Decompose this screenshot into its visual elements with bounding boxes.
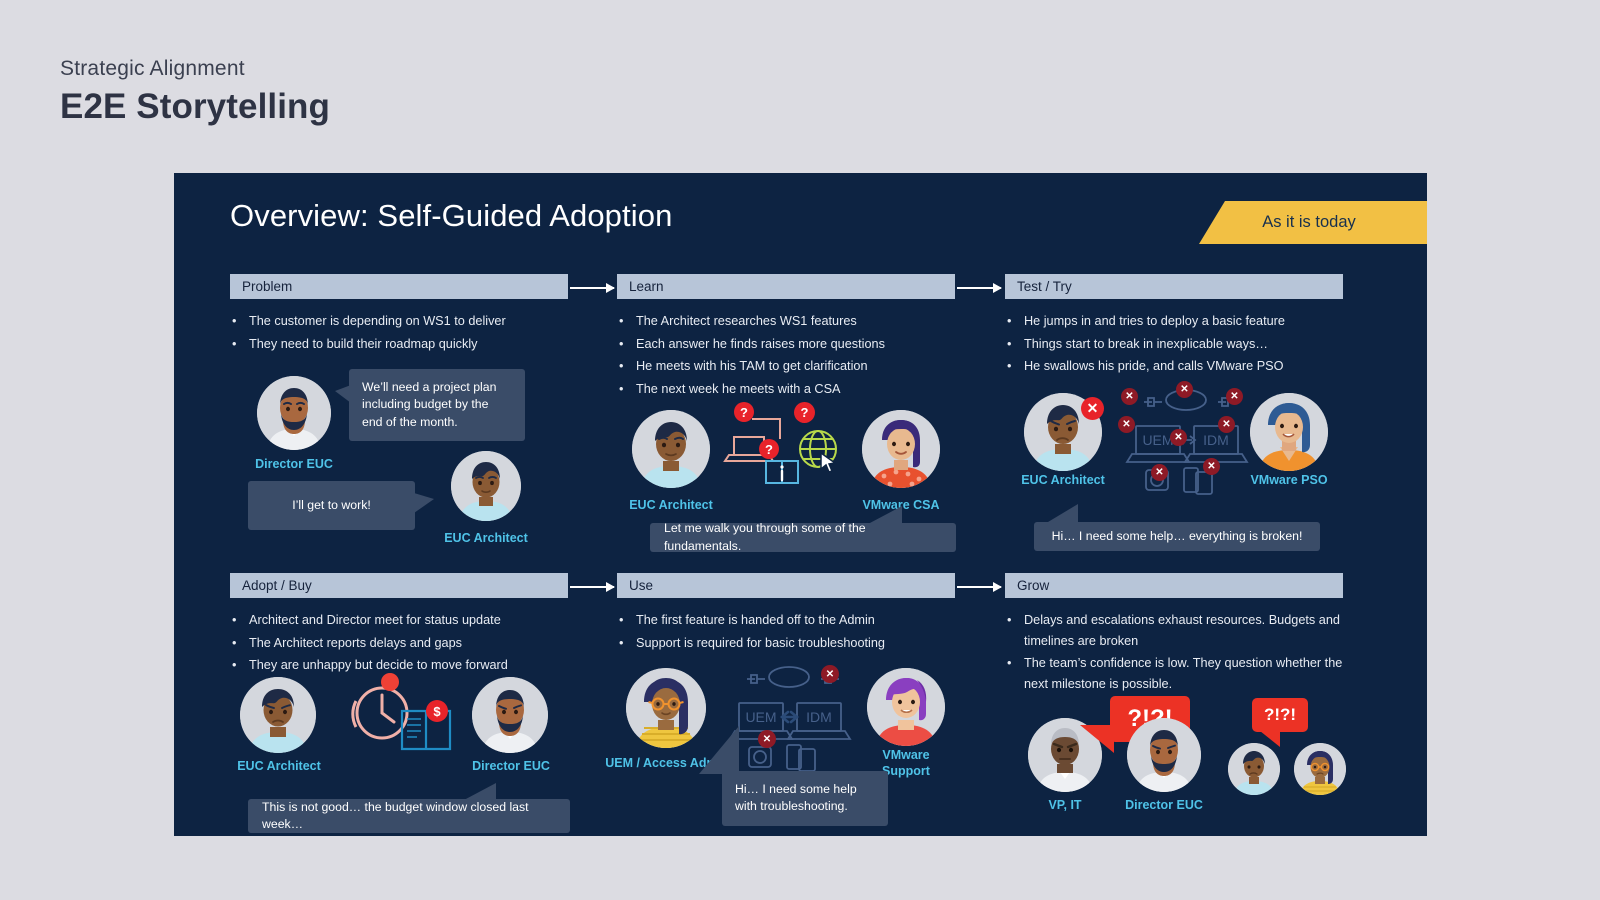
bullet-dot: •: [232, 633, 249, 654]
list-item: • The next week he meets with a CSA: [619, 379, 955, 400]
list-item: • They need to build their roadmap quick…: [232, 334, 568, 355]
list-item: • Things start to break in inexplicable …: [1007, 334, 1343, 355]
avatar-team-member-2: [1294, 743, 1346, 795]
error-badge-icon: ✕: [1170, 429, 1187, 446]
avatar-director-euc-adopt-label: Director EUC: [441, 759, 581, 775]
slide-body: Overview: Self-Guided Adoption As it is …: [174, 173, 1427, 836]
status-flag-label: As it is today: [1262, 213, 1356, 232]
avatar-euc-architect-test-label: EUC Architect: [993, 473, 1133, 489]
stage-adopt-buy: Adopt / Buy • Architect and Director mee…: [230, 573, 568, 678]
avatar-euc-architect-learn-label: EUC Architect: [601, 498, 741, 514]
error-badge-icon: ✕: [1118, 416, 1135, 433]
question-badge-icon: ?: [734, 402, 754, 422]
avatar-euc-architect-adopt: [240, 677, 316, 753]
bubble-director-euc-tail: [335, 385, 351, 403]
status-flag: As it is today: [1199, 201, 1427, 244]
avatar-director-euc-label: Director EUC: [227, 457, 361, 473]
bullet-text: They need to build their roadmap quickly: [249, 334, 568, 355]
svg-text:UEM: UEM: [1142, 432, 1173, 448]
bullet-dot: •: [1007, 311, 1024, 332]
bullet-dot: •: [1007, 334, 1024, 355]
stage-problem-bullets: • The customer is depending on WS1 to de…: [230, 311, 568, 354]
slide-title: Overview: Self-Guided Adoption: [230, 198, 672, 234]
stage-test-try: Test / Try • He jumps in and tries to de…: [1005, 274, 1343, 379]
list-item: • The Architect reports delays and gaps: [232, 633, 568, 654]
connector-adopt-use: [570, 586, 614, 588]
error-badge-icon: ✕: [1176, 381, 1193, 398]
connector-learn-test: [957, 287, 1001, 289]
bullet-dot: •: [619, 379, 636, 400]
stage-problem-header[interactable]: Problem: [230, 274, 568, 299]
bullet-dot: •: [232, 311, 249, 332]
stage-use-header[interactable]: Use: [617, 573, 955, 598]
avatar-vmware-pso-label: VMware PSO: [1219, 473, 1359, 489]
list-item: • Architect and Director meet for status…: [232, 610, 568, 631]
stage-adopt-buy-header-label: Adopt / Buy: [242, 578, 312, 593]
bullet-text: He jumps in and tries to deploy a basic …: [1024, 311, 1343, 332]
bullet-dot: •: [1007, 610, 1024, 651]
stage-grow: Grow • Delays and escalations exhaust re…: [1005, 573, 1343, 696]
slide-canvas: Strategic Alignment E2E Storytelling Ove…: [0, 0, 1600, 900]
avatar-euc-architect-learn: [632, 410, 710, 488]
stage-use-bullets: • The first feature is handed off to the…: [617, 610, 955, 653]
bullet-text: He meets with his TAM to get clarificati…: [636, 356, 955, 377]
bullet-text: The customer is depending on WS1 to deli…: [249, 311, 568, 332]
bullet-dot: •: [1007, 653, 1024, 694]
stage-grow-header-label: Grow: [1017, 578, 1049, 593]
bullet-dot: •: [232, 610, 249, 631]
stage-problem-header-label: Problem: [242, 279, 292, 294]
stage-adopt-buy-header[interactable]: Adopt / Buy: [230, 573, 568, 598]
clock-ledger-icon-cluster: [342, 673, 472, 759]
page-title: E2E Storytelling: [60, 87, 330, 127]
connector-problem-learn: [570, 287, 614, 289]
error-badge-icon: ✕: [758, 730, 776, 748]
bubble-uem-access-admin-tail: [699, 726, 739, 774]
avatar-vmware-support: [867, 668, 945, 746]
error-badge-icon: ✕: [1203, 458, 1220, 475]
list-item: • He swallows his pride, and calls VMwar…: [1007, 356, 1343, 377]
bullet-text: The Architect reports delays and gaps: [249, 633, 568, 654]
page-eyebrow: Strategic Alignment: [60, 56, 330, 81]
bubble-director-euc-adopt: This is not good… the budget window clos…: [248, 799, 570, 833]
avatar-director-euc-adopt: [472, 677, 548, 753]
stage-learn-header-label: Learn: [629, 279, 664, 294]
bubble-director-euc: We’ll need a project plan including budg…: [349, 369, 525, 441]
error-badge-icon: ✕: [1121, 388, 1138, 405]
bubble-euc-architect-test-tail: [1048, 504, 1078, 522]
svg-text:UEM: UEM: [745, 709, 776, 725]
list-item: • Each answer he finds raises more quest…: [619, 334, 955, 355]
bullet-text: Each answer he finds raises more questio…: [636, 334, 955, 355]
avatar-director-euc: [257, 376, 331, 450]
error-badge-icon: ✕: [1218, 416, 1235, 433]
avatar-uem-access-admin: [626, 668, 706, 748]
bullet-text: Things start to break in inexplicable wa…: [1024, 334, 1343, 355]
list-item: • The first feature is handed off to the…: [619, 610, 955, 631]
avatar-director-euc-grow-label: Director EUC: [1097, 798, 1231, 814]
bullet-text: The Architect researches WS1 features: [636, 311, 955, 332]
bubble-team-small: ?!?!: [1252, 698, 1308, 732]
bullet-text: Architect and Director meet for status u…: [249, 610, 568, 631]
stage-grow-bullets: • Delays and escalations exhaust resourc…: [1005, 610, 1343, 694]
svg-text:IDM: IDM: [806, 709, 832, 725]
bubble-uem-access-admin: Hi… I need some help with troubleshootin…: [722, 771, 888, 826]
list-item: • He jumps in and tries to deploy a basi…: [1007, 311, 1343, 332]
bullet-dot: •: [232, 655, 249, 676]
alert-dot-icon: [381, 673, 399, 691]
bullet-text: Delays and escalations exhaust resources…: [1024, 610, 1343, 651]
stage-test-try-bullets: • He jumps in and tries to deploy a basi…: [1005, 311, 1343, 377]
avatar-euc-architect-problem: [451, 451, 521, 521]
list-item: • Delays and escalations exhaust resourc…: [1007, 610, 1343, 651]
bullet-text: The team’s confidence is low. They quest…: [1024, 653, 1343, 694]
avatar-director-euc-grow: [1127, 718, 1201, 792]
avatar-vmware-csa: [862, 410, 940, 488]
stage-learn-bullets: • The Architect researches WS1 features …: [617, 311, 955, 399]
connector-use-grow: [957, 586, 1001, 588]
bubble-euc-architect-problem: I’ll get to work!: [248, 481, 415, 530]
avatar-euc-architect-problem-label: EUC Architect: [419, 531, 553, 547]
bullet-dot: •: [619, 334, 636, 355]
bubble-vmware-csa: Let me walk you through some of the fund…: [650, 523, 956, 552]
svg-text:IDM: IDM: [1203, 432, 1229, 448]
error-badge-icon: ✕: [821, 665, 839, 683]
bullet-dot: •: [1007, 356, 1024, 377]
stage-test-try-header[interactable]: Test / Try: [1005, 274, 1343, 299]
bullet-dot: •: [619, 610, 636, 631]
bubble-euc-architect-test: Hi… I need some help… everything is brok…: [1034, 522, 1320, 551]
list-item: • Support is required for basic troubles…: [619, 633, 955, 654]
question-badge-icon: ?: [794, 402, 815, 423]
bubble-director-euc-adopt-tail: [464, 783, 496, 800]
page-header: Strategic Alignment E2E Storytelling: [60, 56, 330, 127]
list-item: • The Architect researches WS1 features: [619, 311, 955, 332]
error-badge-icon: ✕: [1151, 464, 1168, 481]
error-badge-icon: ✕: [1081, 397, 1104, 420]
money-badge-icon: $: [426, 700, 448, 722]
error-badge-icon: ✕: [1226, 388, 1243, 405]
stage-learn-header[interactable]: Learn: [617, 274, 955, 299]
stage-learn: Learn • The Architect researches WS1 fea…: [617, 274, 955, 401]
list-item: • The customer is depending on WS1 to de…: [232, 311, 568, 332]
bullet-dot: •: [619, 633, 636, 654]
stage-adopt-buy-bullets: • Architect and Director meet for status…: [230, 610, 568, 676]
bullet-dot: •: [619, 311, 636, 332]
avatar-vmware-pso: [1250, 393, 1328, 471]
stage-grow-header[interactable]: Grow: [1005, 573, 1343, 598]
bullet-text: Support is required for basic troublesho…: [636, 633, 955, 654]
avatar-team-member-1: [1228, 743, 1280, 795]
avatar-euc-architect-adopt-label: EUC Architect: [209, 759, 349, 775]
bullet-text: He swallows his pride, and calls VMware …: [1024, 356, 1343, 377]
stage-test-try-header-label: Test / Try: [1017, 279, 1072, 294]
stage-use: Use • The first feature is handed off to…: [617, 573, 955, 655]
bubble-vmware-csa-tail: [868, 506, 902, 524]
bullet-text: The first feature is handed off to the A…: [636, 610, 955, 631]
bullet-dot: •: [619, 356, 636, 377]
stage-use-header-label: Use: [629, 578, 653, 593]
bullet-text: The next week he meets with a CSA: [636, 379, 955, 400]
bubble-vp-it-tail: [1080, 725, 1114, 753]
question-badge-icon: ?: [759, 439, 779, 459]
list-item: • The team’s confidence is low. They que…: [1007, 653, 1343, 694]
bullet-dot: •: [232, 334, 249, 355]
bubble-euc-architect-problem-tail: [414, 493, 434, 513]
list-item: • He meets with his TAM to get clarifica…: [619, 356, 955, 377]
stage-problem: Problem • The customer is depending on W…: [230, 274, 568, 356]
